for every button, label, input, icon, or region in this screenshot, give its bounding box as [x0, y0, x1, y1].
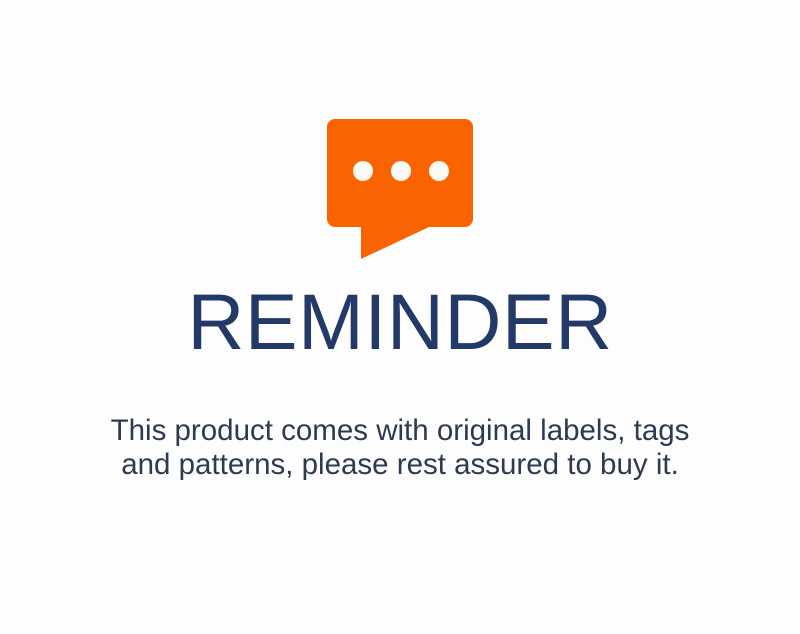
- speech-bubble-icon: [327, 119, 473, 259]
- speech-bubble-shape: [327, 119, 473, 259]
- bubble-dot-3-icon: [429, 161, 449, 181]
- reminder-message-line-2: and patterns, please rest assured to buy…: [0, 448, 800, 482]
- bubble-dot-2-icon: [391, 161, 411, 181]
- reminder-message: This product comes with original labels,…: [0, 414, 800, 482]
- reminder-message-line-1: This product comes with original labels,…: [0, 414, 800, 448]
- reminder-banner: REMINDER This product comes with origina…: [0, 0, 800, 634]
- bubble-dot-1-icon: [353, 161, 373, 181]
- page-title: REMINDER: [0, 282, 800, 361]
- speech-bubble-icon-container: [0, 119, 800, 259]
